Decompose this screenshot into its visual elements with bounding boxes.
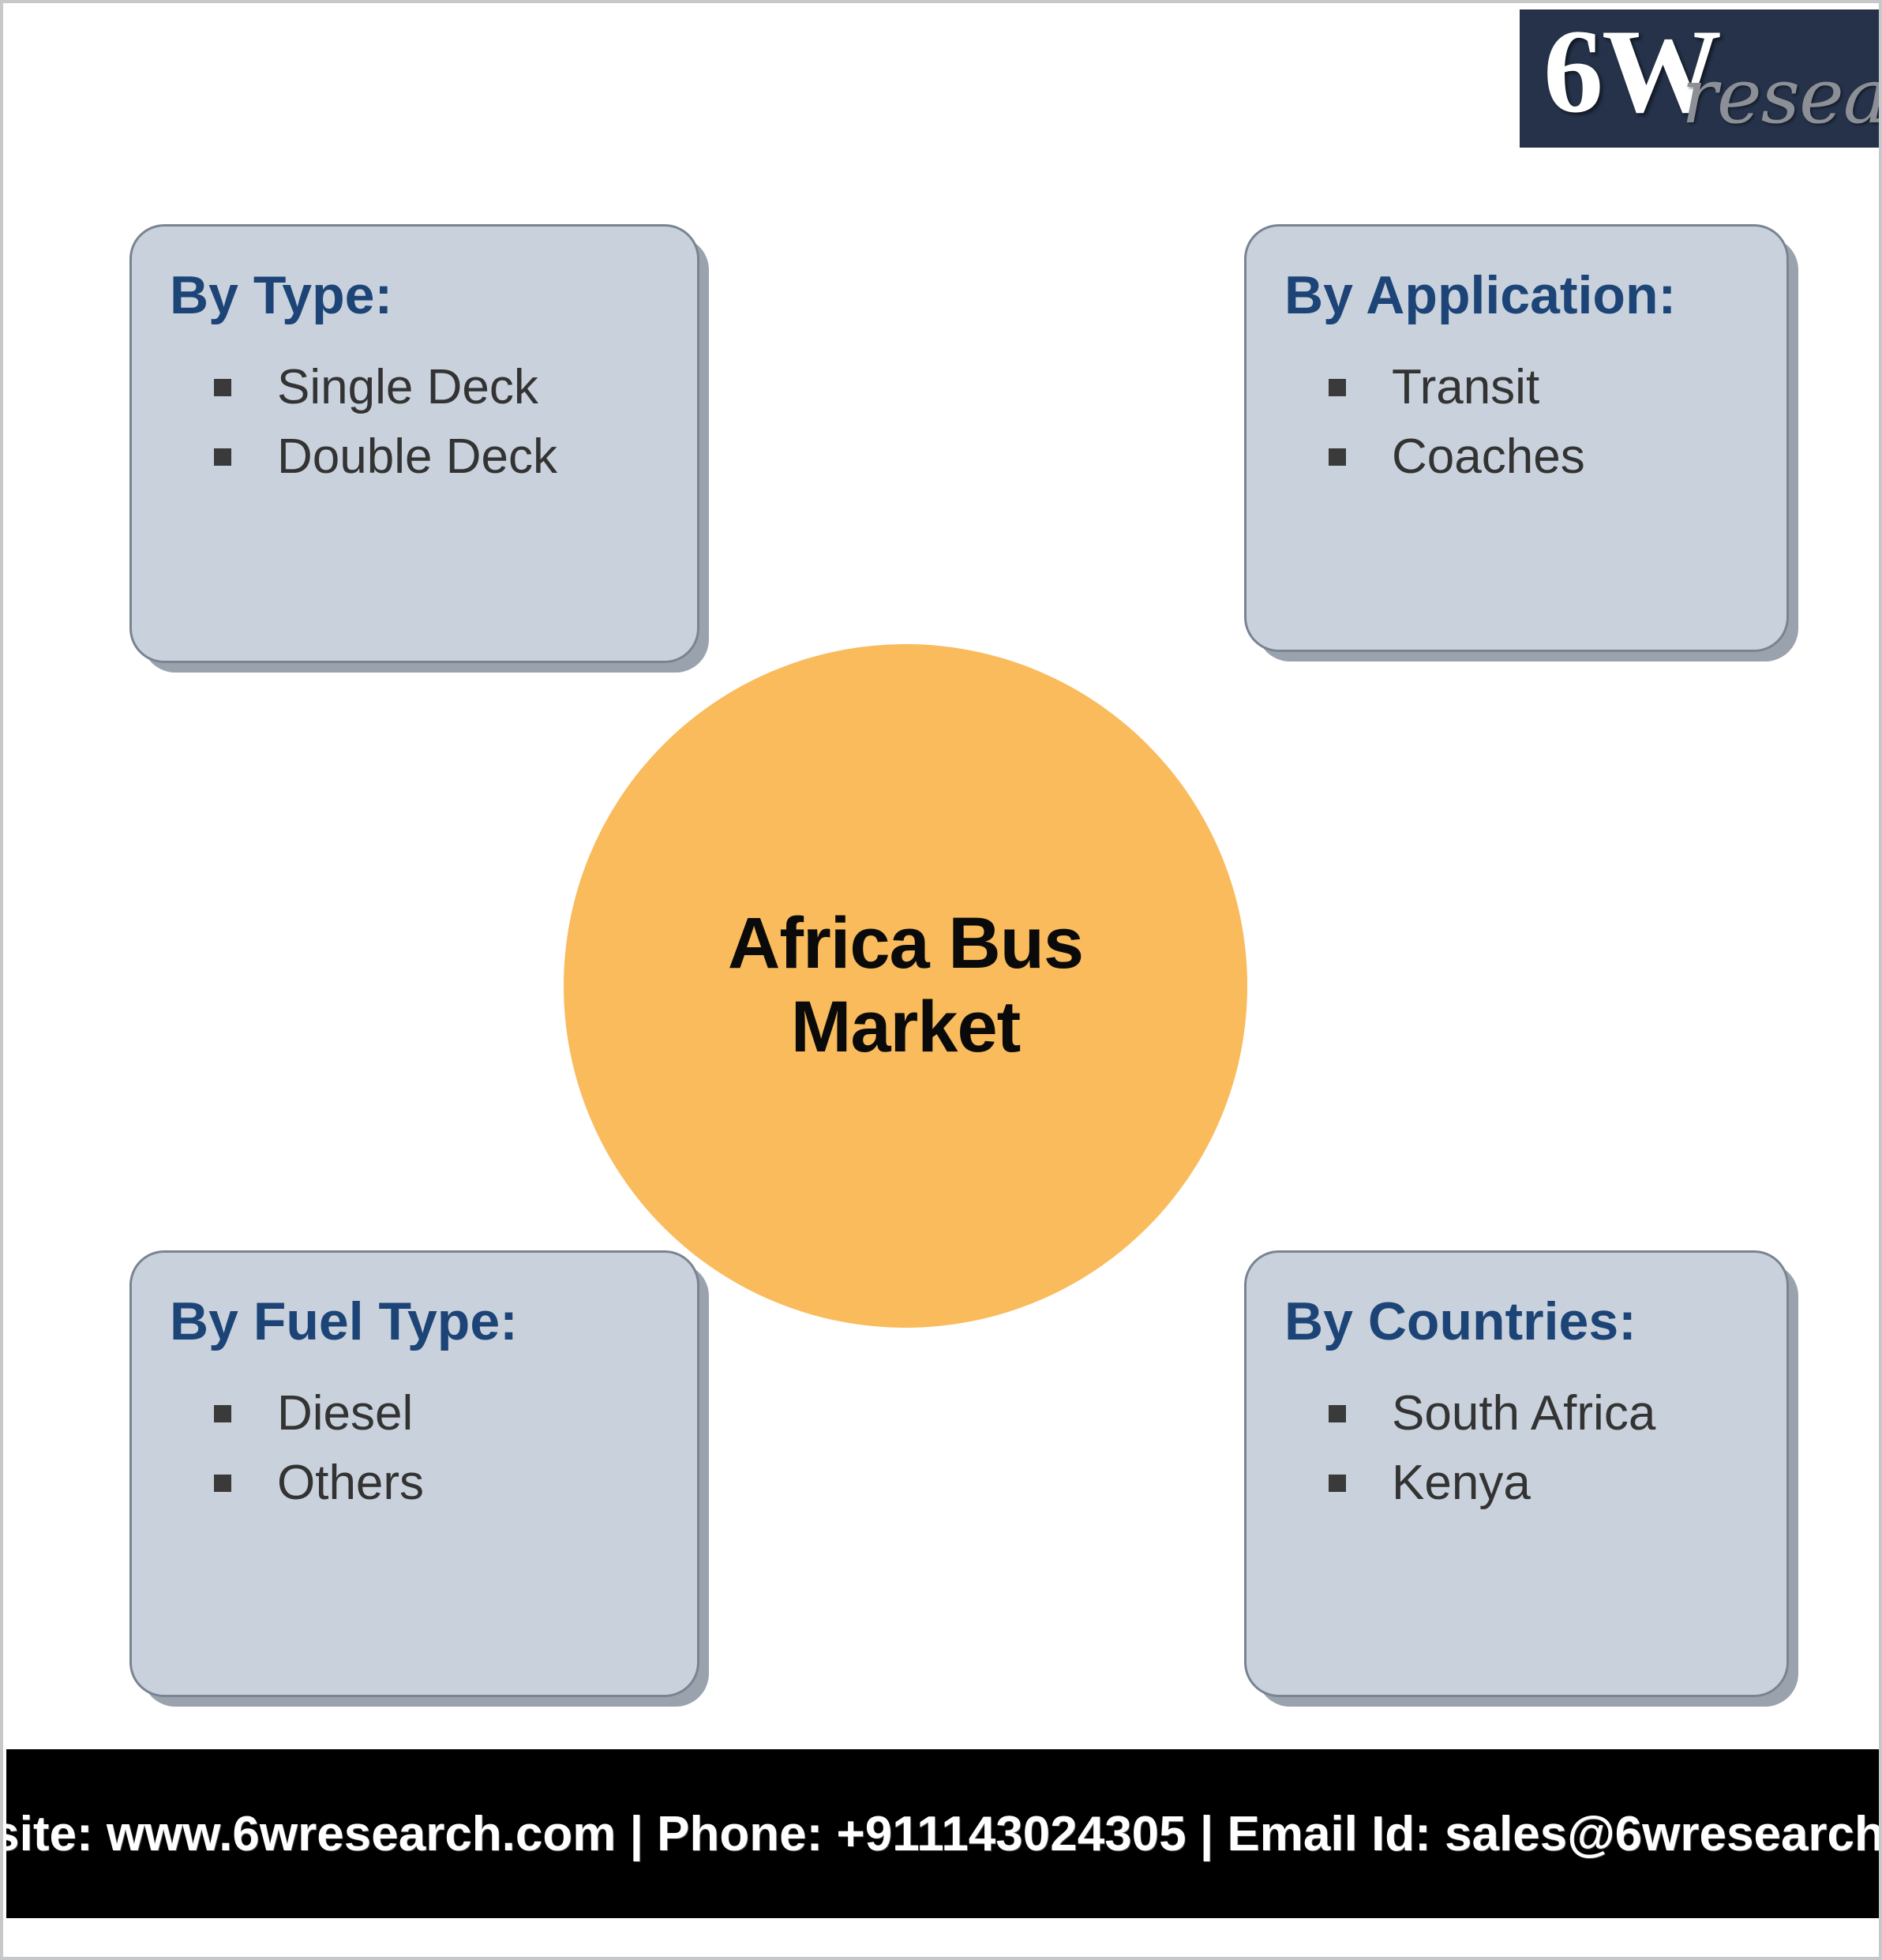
segment-list-type: Single Deck Double Deck	[170, 355, 665, 489]
list-item: Transit	[1329, 355, 1755, 420]
segment-title-fuel-type: By Fuel Type:	[170, 1294, 665, 1350]
list-item-label: Transit	[1392, 355, 1539, 420]
center-market-circle[interactable]: Africa Bus Market	[564, 644, 1247, 1328]
square-bullet-icon	[1329, 1405, 1346, 1422]
segment-card-application[interactable]: By Application: Transit Coaches	[1244, 224, 1789, 652]
footer-contact-text: Website: www.6wresearch.com | Phone: +91…	[0, 1806, 1882, 1862]
list-item-label: Double Deck	[277, 425, 557, 489]
list-item: Diesel	[214, 1381, 665, 1446]
list-item: Single Deck	[214, 355, 665, 420]
logo-secondary-text: research	[1681, 58, 1882, 134]
list-item: South Africa	[1329, 1381, 1755, 1446]
square-bullet-icon	[214, 1475, 231, 1492]
segment-list-application: Transit Coaches	[1284, 355, 1755, 489]
list-item-label: Coaches	[1392, 425, 1585, 489]
square-bullet-icon	[214, 379, 231, 396]
segment-list-countries: South Africa Kenya	[1284, 1381, 1755, 1516]
list-item: Coaches	[1329, 425, 1755, 489]
list-item-label: Others	[277, 1451, 424, 1516]
infographic-page: 6W research By Type: Single Deck Double …	[0, 0, 1882, 1960]
footer-contact-bar: Website: www.6wresearch.com | Phone: +91…	[6, 1749, 1882, 1918]
list-item: Kenya	[1329, 1451, 1755, 1516]
segment-card-countries[interactable]: By Countries: South Africa Kenya	[1244, 1250, 1789, 1697]
list-item-label: South Africa	[1392, 1381, 1655, 1446]
square-bullet-icon	[1329, 1475, 1346, 1492]
square-bullet-icon	[214, 448, 231, 466]
square-bullet-icon	[214, 1405, 231, 1422]
list-item: Others	[214, 1451, 665, 1516]
center-market-label: Africa Bus Market	[692, 902, 1119, 1070]
brand-logo: 6W research	[1520, 9, 1882, 148]
segment-title-type: By Type:	[170, 268, 665, 324]
square-bullet-icon	[1329, 448, 1346, 466]
list-item-label: Kenya	[1392, 1451, 1531, 1516]
segment-list-fuel-type: Diesel Others	[170, 1381, 665, 1516]
segment-card-fuel-type[interactable]: By Fuel Type: Diesel Others	[129, 1250, 699, 1697]
square-bullet-icon	[1329, 379, 1346, 396]
list-item-label: Single Deck	[277, 355, 538, 420]
segment-title-application: By Application:	[1284, 268, 1755, 324]
list-item-label: Diesel	[277, 1381, 413, 1446]
segment-title-countries: By Countries:	[1284, 1294, 1755, 1350]
list-item: Double Deck	[214, 425, 665, 489]
segment-card-type[interactable]: By Type: Single Deck Double Deck	[129, 224, 699, 663]
